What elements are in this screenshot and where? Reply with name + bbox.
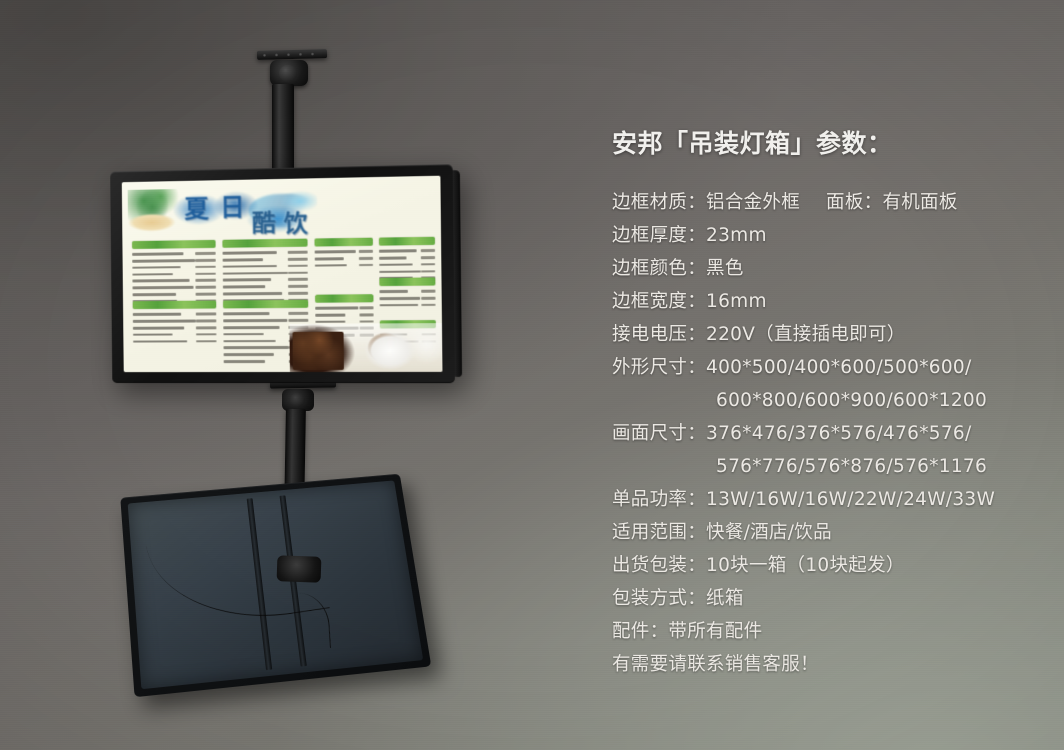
- spec-line-1: 边框厚度：23mm: [612, 219, 1042, 252]
- menu-item-row: [223, 277, 309, 283]
- menu-item-row: [132, 312, 216, 318]
- menu-item-row: [379, 295, 435, 301]
- menu-section-header: [379, 237, 435, 246]
- menu-item-name: [222, 265, 277, 268]
- spec-line-8: 576*776/576*876/576*1176: [612, 450, 1042, 483]
- menu-section-header: [132, 301, 216, 310]
- menu-item-name: [222, 271, 287, 274]
- spec-label: 适用范围：: [612, 522, 706, 543]
- menu-item-row: [315, 312, 373, 318]
- menu-item-row: [132, 318, 216, 324]
- menu-item-name: [223, 313, 269, 316]
- menu-panel: 夏 日 酷 饮: [122, 176, 443, 372]
- menu-item-name: [315, 307, 358, 310]
- menu-item-name: [379, 263, 412, 266]
- headline-char-3: 酷: [252, 203, 276, 238]
- menu-section: [132, 240, 217, 305]
- spec-value: 400*500/400*600/500*600/: [706, 357, 972, 378]
- spec-label: 配件：: [612, 621, 668, 642]
- menu-item-row: [223, 311, 309, 317]
- spec-label: 边框材质：: [612, 192, 706, 213]
- spec-value: 纸箱: [706, 588, 744, 609]
- menu-item-price: [196, 292, 216, 295]
- menu-item-row: [132, 264, 216, 270]
- menu-item-name: [133, 340, 188, 343]
- menu-item-row: [132, 257, 216, 263]
- menu-item-name: [315, 313, 346, 316]
- spec-line-13: 配件：带所有配件: [612, 615, 1042, 648]
- headline-char-1: 夏: [184, 189, 209, 225]
- menu-item-price: [359, 264, 373, 267]
- menu-item-name: [379, 290, 407, 293]
- menu-item-name: [223, 360, 265, 363]
- menu-item-name: [223, 292, 283, 295]
- menu-item-row: [132, 278, 216, 284]
- menu-item-name: [223, 278, 272, 281]
- menu-item-name: [379, 256, 406, 259]
- spec-line-9: 单品功率：13W/16W/16W/22W/24W/33W: [612, 483, 1042, 516]
- menu-item-name: [133, 333, 173, 336]
- menu-headline-text: 夏 日 酷 饮: [173, 184, 318, 241]
- menu-item-name: [133, 327, 185, 330]
- back-panel-surface: [128, 480, 424, 689]
- back-panel-frame: [120, 474, 431, 698]
- menu-item-row: [315, 262, 373, 268]
- menu-item-price: [359, 313, 373, 316]
- spec-line-10: 适用范围：快餐/酒店/饮品: [612, 516, 1042, 549]
- menu-item-price: [196, 313, 216, 316]
- menu-item-price: [196, 266, 216, 269]
- menu-item-price: [196, 259, 216, 262]
- menu-section-header: [314, 237, 372, 246]
- menu-section: [132, 301, 217, 346]
- menu-item-row: [223, 290, 309, 296]
- menu-item-row: [132, 251, 216, 257]
- menu-section: [314, 237, 372, 269]
- menu-section-header: [132, 240, 216, 249]
- menu-item-row: [222, 263, 308, 269]
- spec-line-14: 有需要请联系销售客服！: [612, 648, 1042, 681]
- spec-value-2: 有机面板: [882, 192, 957, 213]
- ball-joint-knuckle-lower-icon: [282, 389, 314, 411]
- menu-item-name: [380, 304, 419, 307]
- spec-value: 带所有配件: [668, 621, 762, 642]
- spec-label-2: 面板：: [826, 192, 882, 213]
- menu-item-name: [132, 286, 193, 289]
- menu-section: [379, 237, 435, 283]
- menu-item-name: [223, 319, 287, 322]
- spec-value: 23mm: [706, 225, 767, 246]
- headline-char-2: 日: [220, 188, 245, 224]
- menu-item-row: [315, 305, 373, 311]
- menu-item-name: [315, 264, 347, 267]
- menu-item-price: [196, 279, 216, 282]
- spec-label: 接电电压：: [612, 324, 706, 345]
- spec-note: 有需要请联系销售客服！: [612, 654, 819, 675]
- menu-item-name: [223, 340, 275, 343]
- menu-item-price: [288, 285, 309, 288]
- spec-lines: 边框材质：铝合金外框面板：有机面板边框厚度：23mm边框颜色：黑色边框宽度：16…: [612, 186, 1042, 681]
- menu-item-name: [132, 252, 184, 255]
- menu-item-name: [132, 273, 173, 276]
- menu-item-price: [422, 297, 435, 300]
- menu-item-price: [421, 270, 434, 273]
- menu-section: [379, 277, 435, 309]
- menu-item-price: [288, 278, 309, 281]
- menu-item-name: [379, 297, 420, 300]
- spec-label: 画面尺寸：: [612, 423, 706, 444]
- light-box-front-view: 夏 日 酷 饮: [110, 164, 455, 383]
- page-title: 安邦「吊装灯箱」参数：: [612, 124, 1042, 160]
- menu-item-name: [222, 251, 277, 254]
- spec-line-12: 包装方式：纸箱: [612, 582, 1042, 615]
- spec-label: 边框厚度：: [612, 225, 706, 246]
- headline-char-4: 饮: [284, 204, 308, 239]
- menu-item-price: [196, 333, 216, 336]
- spec-label: 包装方式：: [612, 588, 706, 609]
- spec-label: 边框宽度：: [612, 291, 706, 312]
- product-detail-image: 夏 日 酷 饮: [0, 0, 1064, 750]
- menu-item-row: [133, 332, 217, 338]
- menu-item-name: [132, 259, 196, 262]
- menu-item-name: [132, 313, 181, 316]
- menu-item-row: [133, 338, 217, 344]
- menu-item-name: [223, 346, 288, 349]
- menu-item-price: [421, 256, 434, 259]
- menu-item-name: [223, 326, 279, 329]
- menu-item-name: [223, 333, 264, 336]
- menu-item-price: [358, 250, 372, 253]
- menu-item-name: [132, 293, 176, 296]
- coffee-photo: [290, 323, 443, 372]
- menu-item-name: [314, 257, 343, 260]
- menu-section-header: [315, 294, 373, 303]
- spec-value: 16mm: [706, 291, 767, 312]
- menu-item-name: [223, 353, 273, 356]
- menu-item-row: [132, 284, 216, 290]
- spec-value: 10块一箱（10块起发）: [706, 555, 905, 576]
- menu-item-price: [287, 264, 308, 267]
- menu-item-price: [287, 258, 308, 261]
- menu-item-price: [196, 252, 216, 255]
- spec-list: 安邦「吊装灯箱」参数： 边框材质：铝合金外框面板：有机面板边框厚度：23mm边框…: [612, 124, 1042, 681]
- menu-item-price: [422, 304, 435, 307]
- menu-item-price: [196, 340, 216, 343]
- menu-item-name: [379, 249, 417, 252]
- menu-section-header: [223, 300, 309, 309]
- spec-line-3: 边框宽度：16mm: [612, 285, 1042, 318]
- menu-item-row: [379, 262, 435, 268]
- spec-value: 铝合金外框: [706, 192, 800, 213]
- menu-item-price: [421, 263, 434, 266]
- menu-item-name: [222, 258, 263, 261]
- coffee-beans-icon: [293, 332, 345, 370]
- menu-column-left: [132, 240, 218, 372]
- menu-item-row: [132, 271, 216, 277]
- spec-label: 出货包装：: [612, 555, 706, 576]
- menu-item-price: [422, 290, 435, 293]
- menu-section-header: [222, 238, 308, 247]
- menu-item-row: [222, 249, 308, 255]
- menu-item-price: [359, 257, 373, 260]
- menu-item-name: [379, 270, 421, 273]
- menu-item-name: [132, 279, 190, 282]
- spec-label: 单品功率：: [612, 489, 706, 510]
- menu-item-price: [287, 251, 308, 254]
- spec-value: 220V（直接插电即可）: [706, 324, 906, 345]
- spec-value: 376*476/376*576/476*576/: [706, 423, 972, 444]
- spec-line-6: 600*800/600*900/600*1200: [612, 384, 1042, 417]
- spec-label: 外形尺寸：: [612, 357, 706, 378]
- spec-value: 600*800/600*900/600*1200: [716, 390, 987, 411]
- menu-item-price: [288, 312, 309, 315]
- menu-item-row: [379, 268, 435, 274]
- menu-item-row: [380, 302, 436, 308]
- menu-item-row: [132, 291, 216, 297]
- menu-item-row: [379, 288, 435, 294]
- menu-item-row: [379, 255, 435, 261]
- spec-line-7: 画面尺寸：376*476/376*576/476*576/: [612, 417, 1042, 450]
- spec-value: 13W/16W/16W/22W/24W/33W: [706, 489, 995, 510]
- menu-item-price: [196, 320, 216, 323]
- menu-item-row: [314, 249, 372, 255]
- menu-item-price: [196, 272, 216, 275]
- spec-value: 黑色: [706, 258, 744, 279]
- spec-line-11: 出货包装：10块一箱（10块起发）: [612, 549, 1042, 582]
- menu-item-price: [288, 319, 309, 322]
- menu-item-name: [314, 250, 355, 253]
- menu-item-row: [222, 270, 308, 276]
- menu-item-name: [132, 320, 196, 323]
- menu-item-price: [196, 326, 216, 329]
- menu-item-price: [359, 306, 373, 309]
- menu-item-row: [314, 255, 372, 261]
- menu-item-price: [421, 249, 434, 252]
- spec-value: 576*776/576*876/576*1176: [716, 456, 987, 477]
- spec-line-5: 外形尺寸：400*500/400*600/500*600/: [612, 351, 1042, 384]
- spec-line-0: 边框材质：铝合金外框面板：有机面板: [612, 186, 1042, 219]
- menu-section: [222, 238, 308, 304]
- menu-item-row: [379, 248, 435, 254]
- menu-item-row: [222, 256, 308, 262]
- mount-bracket-lower-icon: [277, 555, 322, 583]
- menu-item-name: [132, 266, 181, 269]
- spec-line-4: 接电电压：220V（直接插电即可）: [612, 318, 1042, 351]
- menu-item-name: [223, 285, 266, 288]
- spec-line-2: 边框颜色：黑色: [612, 252, 1042, 285]
- menu-item-price: [288, 292, 309, 295]
- menu-item-row: [223, 283, 309, 289]
- menu-item-price: [287, 271, 308, 274]
- menu-item-price: [196, 286, 216, 289]
- menu-item-row: [133, 325, 217, 331]
- spec-label: 边框颜色：: [612, 258, 706, 279]
- spec-value: 快餐/酒店/饮品: [706, 522, 832, 543]
- menu-section-header: [379, 277, 435, 286]
